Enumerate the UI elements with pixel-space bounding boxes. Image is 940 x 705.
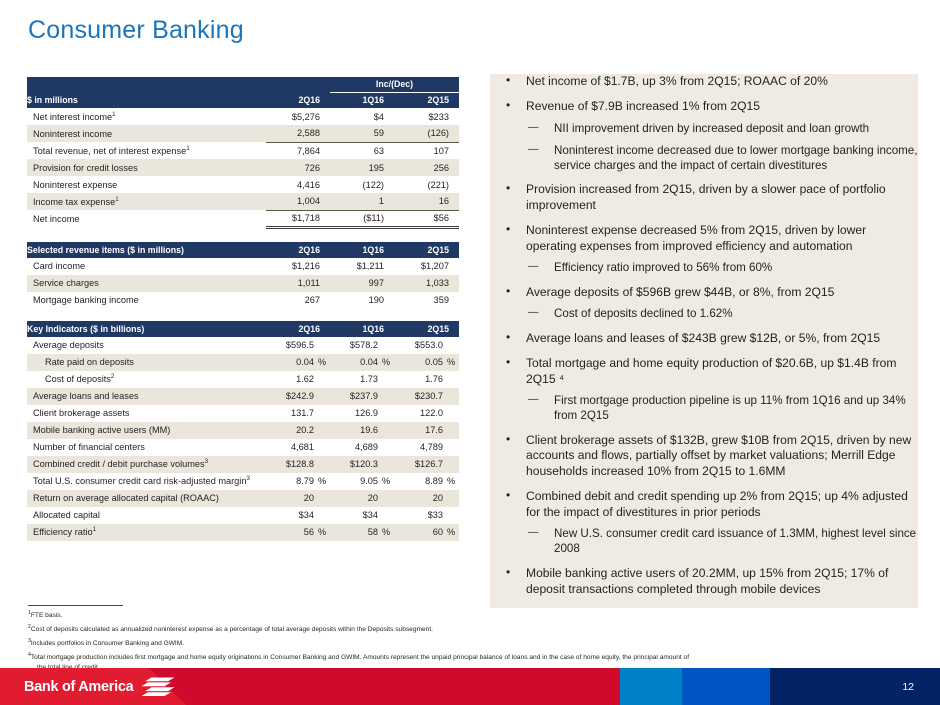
row-unit-2q15: %	[445, 524, 459, 541]
row-value-2q16: 726	[266, 159, 330, 176]
row-value-1q16: 0.04	[330, 354, 380, 371]
row-value-2q16: 1,004	[266, 193, 330, 210]
row-unit-1q16	[380, 507, 394, 524]
row-value-2q16: $34	[266, 507, 316, 524]
row-value-2q16: $596.5	[266, 337, 316, 354]
row-unit-2q16	[316, 337, 330, 354]
income-table-col-2q16: 2Q16	[266, 92, 330, 108]
indicators-table-header-row: Key Indicators ($ in billions) 2Q16 1Q16…	[27, 321, 459, 337]
footnote-marker: 1	[93, 526, 96, 533]
spacer-cell	[27, 77, 266, 92]
row-value-2q15: (126)	[394, 125, 459, 142]
row-value-1q16: 58	[330, 524, 380, 541]
list-item: Average deposits of $596B grew $44B, or …	[490, 285, 918, 322]
table-row: Mobile banking active users (MM) 20.2 19…	[27, 422, 459, 439]
sub-list-item: Efficiency ratio improved to 56% from 60…	[526, 260, 918, 275]
row-unit-2q15	[445, 456, 459, 473]
sub-list: Cost of deposits declined to 1.62%	[526, 306, 918, 321]
table-row: Rate paid on deposits 0.04 % 0.04 % 0.05…	[27, 354, 459, 371]
row-value-2q15: 60	[394, 524, 445, 541]
row-value-1q16: ($11)	[330, 210, 394, 227]
table-row: Average deposits $596.5 $578.2 $553.0	[27, 337, 459, 354]
footnote-marker: 1	[112, 111, 115, 118]
row-value-2q15: 359	[394, 292, 459, 309]
footnote-marker: 3	[246, 475, 249, 482]
row-value-1q16: 126.9	[330, 405, 380, 422]
row-unit-1q16	[380, 456, 394, 473]
bank-of-america-logo: Bank of America	[24, 677, 175, 697]
row-label: Average loans and leases	[27, 388, 266, 405]
table-row: Noninterest expense 4,416 (122) (221)	[27, 176, 459, 193]
indicators-table-col-2q15: 2Q15	[394, 321, 459, 337]
row-label: Service charges	[27, 275, 266, 292]
row-value-2q15: 122.0	[394, 405, 445, 422]
row-unit-1q16: %	[380, 473, 394, 490]
income-statement-table: Inc/(Dec) $ in millions 2Q16 1Q16 2Q15 N…	[27, 77, 459, 229]
row-value-2q15: $233	[394, 108, 459, 125]
row-unit-1q16: %	[380, 524, 394, 541]
table-row: Noninterest income 2,588 59 (126)	[27, 125, 459, 142]
row-label: Net income	[27, 210, 266, 227]
indicators-table-row-label-header: Key Indicators ($ in billions)	[27, 321, 266, 337]
row-value-1q16: 997	[330, 275, 394, 292]
row-unit-1q16	[380, 439, 394, 456]
list-item: Mobile banking active users of 20.2MM, u…	[490, 566, 918, 597]
table-row-total: Net income $1,718 ($11) $56	[27, 210, 459, 227]
footnote: 3Includes portfolios in Consumer Banking…	[28, 637, 913, 649]
table-row: Efficiency ratio1 56 % 58 % 60 %	[27, 524, 459, 541]
row-value-2q16: $128.8	[266, 456, 316, 473]
row-value-2q16: 7,864	[266, 142, 330, 159]
row-value-1q16: $34	[330, 507, 380, 524]
row-unit-2q15	[445, 439, 459, 456]
row-value-1q16: 19.6	[330, 422, 380, 439]
footnote-marker: 3	[205, 458, 208, 465]
row-unit-2q16: %	[316, 354, 330, 371]
list-item: Average loans and leases of $243B grew $…	[490, 331, 918, 347]
row-value-1q16: $237.9	[330, 388, 380, 405]
row-label: Rate paid on deposits	[27, 354, 266, 371]
row-value-2q15: 107	[394, 142, 459, 159]
table-row: Total U.S. consumer credit card risk-adj…	[27, 473, 459, 490]
footnote-divider	[28, 605, 123, 606]
row-value-2q16: $1,718	[266, 210, 330, 227]
row-label: Cost of deposits2	[27, 371, 266, 388]
row-value-1q16: $1,211	[330, 258, 394, 275]
row-value-2q15: $1,207	[394, 258, 459, 275]
indicators-table-col-2q16: 2Q16	[266, 321, 330, 337]
row-label: Noninterest income	[27, 125, 266, 142]
row-unit-2q15	[445, 422, 459, 439]
row-label: Efficiency ratio1	[27, 524, 266, 541]
revenue-table-col-2q16: 2Q16	[266, 242, 330, 258]
table-row: Mortgage banking income 267 190 359	[27, 292, 459, 309]
row-label: Mobile banking active users (MM)	[27, 422, 266, 439]
row-value-2q15: 1,033	[394, 275, 459, 292]
row-unit-1q16: %	[380, 354, 394, 371]
table-row: Average loans and leases $242.9 $237.9 $…	[27, 388, 459, 405]
list-item: Noninterest expense decreased 5% from 2Q…	[490, 223, 918, 275]
row-label: Average deposits	[27, 337, 266, 354]
highlights-list: Net income of $1.7B, up 3% from 2Q15; RO…	[490, 74, 918, 597]
row-unit-2q16	[316, 490, 330, 507]
table-row: Cost of deposits2 1.62 1.73 1.76	[27, 371, 459, 388]
list-item: Provision increased from 2Q15, driven by…	[490, 182, 918, 213]
footer-red-band: Bank of America	[0, 668, 620, 705]
flagscape-icon	[141, 677, 175, 697]
row-value-1q16: 4,689	[330, 439, 380, 456]
row-value-1q16: $120.3	[330, 456, 380, 473]
list-item: Total mortgage and home equity productio…	[490, 356, 918, 423]
row-unit-1q16	[380, 388, 394, 405]
sub-list-item: First mortgage production pipeline is up…	[526, 393, 918, 423]
table-row: Return on average allocated capital (ROA…	[27, 490, 459, 507]
table-row: Combined credit / debit purchase volumes…	[27, 456, 459, 473]
row-value-2q15: $56	[394, 210, 459, 227]
row-unit-2q15: %	[445, 473, 459, 490]
sub-list-item: Noninterest income decreased due to lowe…	[526, 143, 918, 173]
highlight-text: Mobile banking active users of 20.2MM, u…	[526, 566, 888, 596]
sub-list: New U.S. consumer credit card issuance o…	[526, 526, 918, 556]
row-value-2q15: 17.6	[394, 422, 445, 439]
footnote: 2Cost of deposits calculated as annualiz…	[28, 623, 913, 635]
row-value-1q16: 59	[330, 125, 394, 142]
row-label: Provision for credit losses	[27, 159, 266, 176]
footnote-text: Total mortgage production includes first…	[31, 654, 689, 661]
row-label: Total revenue, net of interest expense1	[27, 142, 266, 159]
row-value-2q15: $230.7	[394, 388, 445, 405]
row-value-2q15: 16	[394, 193, 459, 210]
row-unit-1q16	[380, 422, 394, 439]
table-row: Client brokerage assets 131.7 126.9 122.…	[27, 405, 459, 422]
row-value-2q16: 8.79	[266, 473, 316, 490]
row-label: Noninterest expense	[27, 176, 266, 193]
row-unit-2q15	[445, 405, 459, 422]
row-label: Net interest income1	[27, 108, 266, 125]
row-unit-1q16	[380, 337, 394, 354]
table-gap	[27, 309, 459, 321]
footnote-marker: 2	[111, 373, 114, 380]
table-row: Number of financial centers 4,681 4,689 …	[27, 439, 459, 456]
highlight-text: Noninterest expense decreased 5% from 2Q…	[526, 223, 866, 253]
key-indicators-table: Key Indicators ($ in billions) 2Q16 1Q16…	[27, 321, 459, 541]
revenue-table-row-label-header: Selected revenue items ($ in millions)	[27, 242, 266, 258]
footer-dark-blue-band: 12	[770, 668, 940, 705]
row-value-2q15: $126.7	[394, 456, 445, 473]
row-value-2q16: $1,216	[266, 258, 330, 275]
row-value-2q15: (221)	[394, 176, 459, 193]
row-value-2q16: 1.62	[266, 371, 316, 388]
income-table-row-label-header: $ in millions	[27, 92, 266, 108]
row-value-2q16: 131.7	[266, 405, 316, 422]
row-label: Income tax expense1	[27, 193, 266, 210]
row-value-2q15: 1.76	[394, 371, 445, 388]
row-value-1q16: $578.2	[330, 337, 380, 354]
row-value-2q16: 56	[266, 524, 316, 541]
row-value-2q16: $242.9	[266, 388, 316, 405]
row-value-1q16: $4	[330, 108, 394, 125]
row-unit-2q16	[316, 422, 330, 439]
row-value-2q16: 20	[266, 490, 316, 507]
row-value-2q15: 8.89	[394, 473, 445, 490]
highlight-text: Client brokerage assets of $132B, grew $…	[526, 433, 911, 478]
row-value-2q15: 256	[394, 159, 459, 176]
highlight-text: Combined debit and credit spending up 2%…	[526, 489, 908, 519]
table-row: Income tax expense1 1,004 1 16	[27, 193, 459, 210]
row-unit-2q16	[316, 405, 330, 422]
list-item: Net income of $1.7B, up 3% from 2Q15; RO…	[490, 74, 918, 90]
footnote-text: FTE basis.	[31, 612, 63, 619]
income-table-header-row: $ in millions 2Q16 1Q16 2Q15	[27, 92, 459, 108]
row-unit-2q15	[445, 507, 459, 524]
footer-medium-blue-band	[682, 668, 770, 705]
row-value-1q16: 190	[330, 292, 394, 309]
footer-bar: Bank of America 12	[0, 668, 940, 705]
sub-list-item: Cost of deposits declined to 1.62%	[526, 306, 918, 321]
sub-list-item: NII improvement driven by increased depo…	[526, 121, 918, 136]
revenue-table-header-row: Selected revenue items ($ in millions) 2…	[27, 242, 459, 258]
selected-revenue-items-table: Selected revenue items ($ in millions) 2…	[27, 242, 459, 309]
tables-column: Inc/(Dec) $ in millions 2Q16 1Q16 2Q15 N…	[27, 77, 459, 541]
row-value-1q16: 63	[330, 142, 394, 159]
sub-list: NII improvement driven by increased depo…	[526, 121, 918, 173]
table-row: Card income $1,216 $1,211 $1,207	[27, 258, 459, 275]
list-item: Revenue of $7.9B increased 1% from 2Q15 …	[490, 99, 918, 173]
row-value-1q16: 195	[330, 159, 394, 176]
table-row: Service charges 1,011 997 1,033	[27, 275, 459, 292]
row-label: Combined credit / debit purchase volumes…	[27, 456, 266, 473]
row-label: Total U.S. consumer credit card risk-adj…	[27, 473, 266, 490]
row-unit-2q16	[316, 507, 330, 524]
income-table-span-header-row: Inc/(Dec)	[27, 77, 459, 92]
row-unit-1q16	[380, 405, 394, 422]
inc-dec-span-label: Inc/(Dec)	[330, 77, 459, 92]
indicators-table-col-1q16: 1Q16	[330, 321, 394, 337]
page-title: Consumer Banking	[28, 16, 244, 45]
row-unit-1q16	[380, 371, 394, 388]
row-value-2q16: $5,276	[266, 108, 330, 125]
highlight-text: Average deposits of $596B grew $44B, or …	[526, 285, 834, 299]
highlight-text: Revenue of $7.9B increased 1% from 2Q15	[526, 99, 760, 113]
row-value-2q15: 20	[394, 490, 445, 507]
row-value-2q16: 1,011	[266, 275, 330, 292]
table-row: Net interest income1 $5,276 $4 $233	[27, 108, 459, 125]
page-number: 12	[902, 681, 914, 693]
row-value-1q16: 9.05	[330, 473, 380, 490]
row-label: Number of financial centers	[27, 439, 266, 456]
highlights-panel: Net income of $1.7B, up 3% from 2Q15; RO…	[490, 74, 918, 608]
row-value-2q15: 4,789	[394, 439, 445, 456]
row-label: Return on average allocated capital (ROA…	[27, 490, 266, 507]
footer-light-blue-band	[620, 668, 682, 705]
brand-wordmark: Bank of America	[24, 679, 133, 695]
row-value-1q16: (122)	[330, 176, 394, 193]
row-unit-2q16	[316, 371, 330, 388]
table-row: Allocated capital $34 $34 $33	[27, 507, 459, 524]
row-value-2q16: 4,416	[266, 176, 330, 193]
row-value-1q16: 1.73	[330, 371, 380, 388]
row-label: Allocated capital	[27, 507, 266, 524]
income-table-col-2q15: 2Q15	[394, 92, 459, 108]
row-value-2q15: $33	[394, 507, 445, 524]
row-value-2q16: 267	[266, 292, 330, 309]
row-unit-2q16	[316, 439, 330, 456]
row-value-2q16: 0.04	[266, 354, 316, 371]
row-unit-2q15	[445, 490, 459, 507]
row-value-2q15: 0.05	[394, 354, 445, 371]
sub-list: Efficiency ratio improved to 56% from 60…	[526, 260, 918, 275]
row-value-2q16: 4,681	[266, 439, 316, 456]
sub-list: First mortgage production pipeline is up…	[526, 393, 918, 423]
table-row: Provision for credit losses 726 195 256	[27, 159, 459, 176]
row-value-1q16: 20	[330, 490, 380, 507]
footnote-text: Includes portfolios in Consumer Banking …	[31, 640, 184, 647]
list-item: Combined debit and credit spending up 2%…	[490, 489, 918, 556]
row-value-2q16: 20.2	[266, 422, 316, 439]
row-unit-1q16	[380, 490, 394, 507]
footnote: 1FTE basis.	[28, 609, 913, 621]
row-unit-2q15: %	[445, 354, 459, 371]
row-value-2q15: $553.0	[394, 337, 445, 354]
row-unit-2q15	[445, 337, 459, 354]
row-unit-2q16	[316, 456, 330, 473]
table-row: Total revenue, net of interest expense1 …	[27, 142, 459, 159]
row-unit-2q16	[316, 388, 330, 405]
income-table-col-1q16: 1Q16	[330, 92, 394, 108]
row-value-1q16: 1	[330, 193, 394, 210]
highlight-text: Provision increased from 2Q15, driven by…	[526, 182, 886, 212]
row-label: Mortgage banking income	[27, 292, 266, 309]
row-value-2q16: 2,588	[266, 125, 330, 142]
row-unit-2q15	[445, 388, 459, 405]
row-label: Client brokerage assets	[27, 405, 266, 422]
row-unit-2q16: %	[316, 473, 330, 490]
highlight-text: Total mortgage and home equity productio…	[526, 356, 896, 386]
list-item: Client brokerage assets of $132B, grew $…	[490, 433, 918, 480]
row-unit-2q16: %	[316, 524, 330, 541]
footnotes-block: 1FTE basis. 2Cost of deposits calculated…	[28, 605, 913, 675]
revenue-table-col-1q16: 1Q16	[330, 242, 394, 258]
row-label: Card income	[27, 258, 266, 275]
highlight-text: Average loans and leases of $243B grew $…	[526, 331, 880, 345]
table-gap	[27, 229, 459, 242]
row-unit-2q15	[445, 371, 459, 388]
sub-list-item: New U.S. consumer credit card issuance o…	[526, 526, 918, 556]
highlight-text: Net income of $1.7B, up 3% from 2Q15; RO…	[526, 74, 828, 88]
footnote-text: Cost of deposits calculated as annualize…	[31, 626, 433, 633]
spacer-cell	[266, 77, 330, 92]
revenue-table-col-2q15: 2Q15	[394, 242, 459, 258]
